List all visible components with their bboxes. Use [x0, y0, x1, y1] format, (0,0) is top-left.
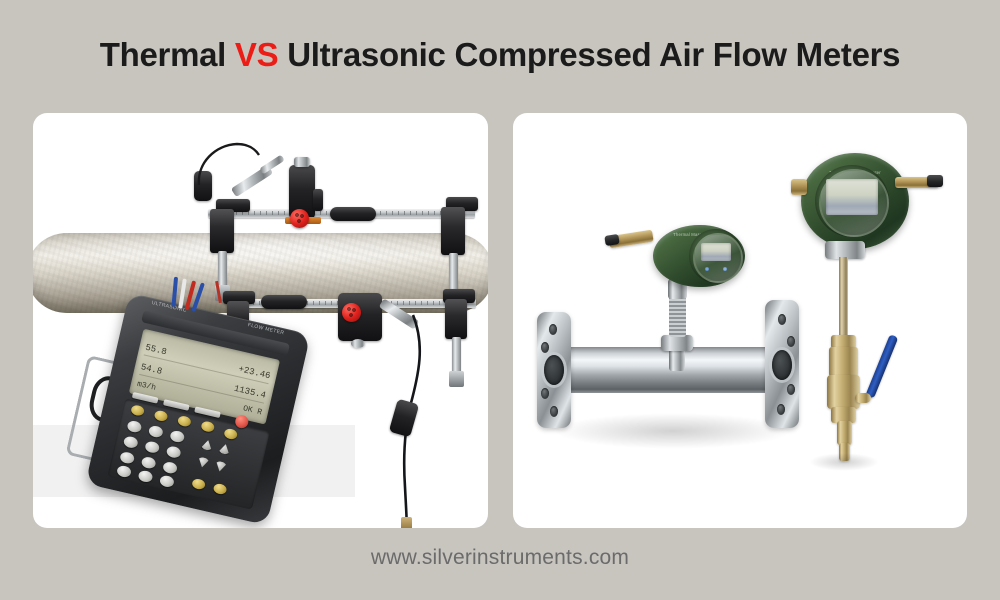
ball-valve-handle[interactable] — [865, 334, 898, 399]
lcd-row-1-left: 55.8 — [144, 342, 167, 357]
key-1[interactable] — [119, 451, 135, 465]
insertion-meter-gland-nut — [829, 347, 858, 377]
flange-bolt-hole — [787, 336, 795, 347]
key-8[interactable] — [148, 425, 164, 439]
insertion-meter-side-port — [791, 179, 807, 195]
key-sign[interactable] — [159, 474, 175, 488]
rail-slider-upper — [330, 207, 376, 221]
flange-bolt-hole — [541, 388, 549, 399]
key-func[interactable] — [200, 420, 215, 433]
lcd-row-1-right: +23.46 — [238, 364, 272, 381]
key-esc[interactable] — [177, 415, 192, 428]
inline-meter-hex-nut — [661, 335, 693, 351]
inline-meter-lcd — [701, 243, 731, 261]
key-7[interactable] — [126, 420, 142, 434]
insertion-meter-shadow — [809, 453, 879, 471]
key-2[interactable] — [141, 456, 157, 470]
left-image-panel: ULTRASONIC FLOW METER 55.8 +23.46 54.8 1… — [33, 113, 488, 528]
rail-slider-lower — [261, 295, 307, 309]
cable-connector — [401, 517, 412, 528]
inline-meter-lower-neck — [669, 349, 685, 371]
key-arrow-up[interactable] — [200, 439, 214, 451]
flange-bolt-hole — [787, 384, 795, 395]
lower-clamp-nut — [351, 339, 365, 348]
key-arrow-down[interactable] — [196, 456, 210, 468]
insertion-meter-probe-rod — [839, 257, 848, 339]
inline-meter-flange-right — [765, 300, 799, 428]
inline-meter-flange-left — [537, 312, 571, 428]
inline-meter-transmitter-head: Thermal Mass Flowmeter — [653, 225, 745, 287]
flange-bolt-hole — [550, 406, 558, 417]
lcd-row-3-left: m3/h — [136, 380, 157, 393]
valve-stem — [837, 421, 852, 445]
key-enter[interactable] — [154, 410, 169, 423]
flange-bolt-hole — [541, 342, 549, 353]
key-menu[interactable] — [130, 404, 145, 417]
title-prefix: Thermal — [100, 36, 235, 73]
right-image-panel: Thermal Mass Flowmeter Thermal Mass Flow… — [513, 113, 967, 528]
key-decimal[interactable] — [137, 469, 153, 483]
page-title: Thermal VS Ultrasonic Compressed Air Flo… — [0, 36, 1000, 74]
key-3[interactable] — [162, 461, 178, 475]
ball-valve-body — [827, 375, 860, 409]
transducer-upper-left — [210, 209, 234, 253]
key-right[interactable] — [213, 483, 228, 496]
lcd-row-2-left: 54.8 — [140, 362, 163, 377]
footer-website-url[interactable]: www.silverinstruments.com — [0, 546, 1000, 570]
flange-bolt-hole — [777, 404, 785, 415]
flange-bore-left — [544, 355, 564, 385]
center-clamp-side — [313, 189, 323, 211]
transducer-cable-upper — [193, 141, 263, 187]
transducer-upper-right — [441, 207, 465, 255]
valve-handle-pivot — [855, 393, 871, 403]
flange-bore-right — [772, 350, 792, 380]
poster-canvas: Thermal VS Ultrasonic Compressed Air Flo… — [0, 0, 1000, 600]
key-arrow-up-alt[interactable] — [218, 443, 232, 455]
insertion-meter-transmitter-head: Thermal Mass Flowmeter — [801, 153, 909, 249]
handheld-model-label: FLOW METER — [247, 322, 285, 336]
mount-stud-upper-right — [449, 253, 458, 291]
insertion-meter-lcd — [826, 179, 878, 215]
lcd-row-2-right: 1135.4 — [233, 383, 267, 400]
inline-meter-indicator-led-2 — [723, 267, 727, 271]
inline-meter-shadow — [553, 413, 793, 449]
key-left[interactable] — [191, 478, 206, 491]
flange-bolt-hole — [549, 324, 557, 335]
key-arrow-down-alt[interactable] — [214, 460, 228, 472]
title-suffix: Ultrasonic Compressed Air Flow Meters — [278, 36, 900, 73]
key-9[interactable] — [169, 430, 185, 444]
key-dot[interactable] — [223, 428, 238, 441]
inline-meter-indicator-led — [705, 267, 709, 271]
red-adjust-knob-upper[interactable] — [290, 209, 309, 228]
key-0[interactable] — [116, 465, 132, 479]
red-adjust-knob-lower[interactable] — [342, 303, 361, 322]
mount-stud-upper-left — [218, 251, 227, 287]
key-6[interactable] — [166, 445, 182, 459]
insertion-meter-conduit-cap — [927, 175, 943, 187]
key-5[interactable] — [144, 440, 160, 454]
key-4[interactable] — [123, 435, 139, 449]
title-vs-highlight: VS — [235, 36, 278, 73]
flange-bolt-hole — [778, 314, 786, 325]
tower-top-nut — [294, 157, 310, 167]
inline-meter-probe-fins — [669, 295, 686, 337]
